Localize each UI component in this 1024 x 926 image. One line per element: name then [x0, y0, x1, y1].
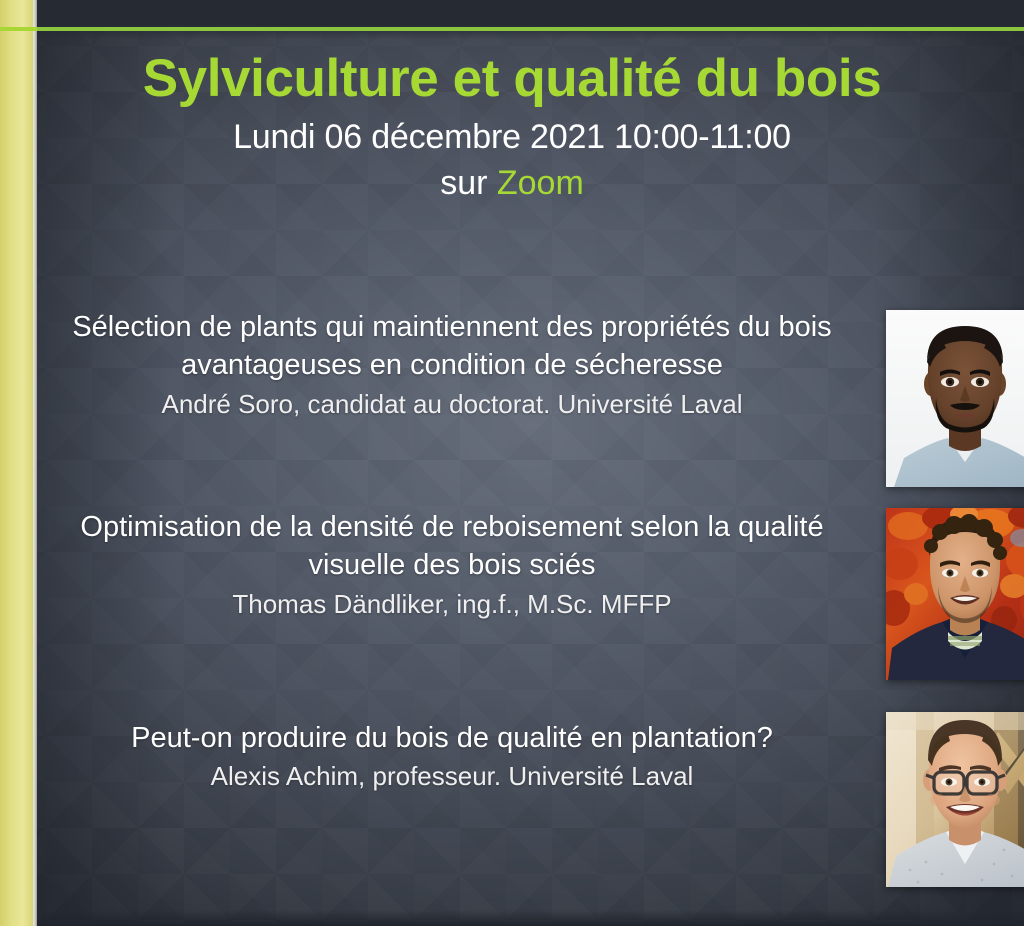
speaker-photo-andre-soro — [886, 310, 1024, 487]
slide-header: Sylviculture et qualité du bois Lundi 06… — [37, 52, 987, 205]
talk-title: Peut-on produire du bois de qualité en p… — [47, 719, 857, 757]
speaker-photo-alexis-achim — [886, 712, 1024, 887]
platform-prefix-label: sur — [440, 164, 497, 202]
talk-speaker: André Soro, candidat au doctorat. Univer… — [47, 388, 857, 422]
event-datetime: Lundi 06 décembre 2021 10:00-11:00 — [37, 116, 987, 160]
left-yellow-accent-bar — [0, 0, 33, 926]
talk-title: Sélection de plants qui maintiennent des… — [47, 308, 857, 385]
talk-text-block: Peut-on produire du bois de qualité en p… — [47, 719, 857, 794]
talk-speaker: Thomas Dändliker, ing.f., M.Sc. MFFP — [47, 588, 857, 622]
top-green-rule — [0, 27, 1024, 31]
background-bottom-shading — [0, 910, 1024, 926]
talk-text-block: Sélection de plants qui maintiennent des… — [47, 308, 857, 421]
background-top-shading — [0, 0, 1024, 40]
talk-title: Optimisation de la densité de reboisemen… — [47, 508, 857, 585]
speaker-photo-thomas-dandliker — [886, 508, 1024, 680]
presentation-slide: Sylviculture et qualité du bois Lundi 06… — [0, 0, 1024, 926]
event-platform-line: sur Zoom — [37, 162, 987, 206]
talk-speaker: Alexis Achim, professeur. Université Lav… — [47, 760, 857, 794]
page-title: Sylviculture et qualité du bois — [37, 52, 987, 106]
talk-text-block: Optimisation de la densité de reboisemen… — [47, 508, 857, 621]
top-green-rule-left-segment — [0, 27, 37, 31]
platform-name-label: Zoom — [497, 164, 584, 202]
